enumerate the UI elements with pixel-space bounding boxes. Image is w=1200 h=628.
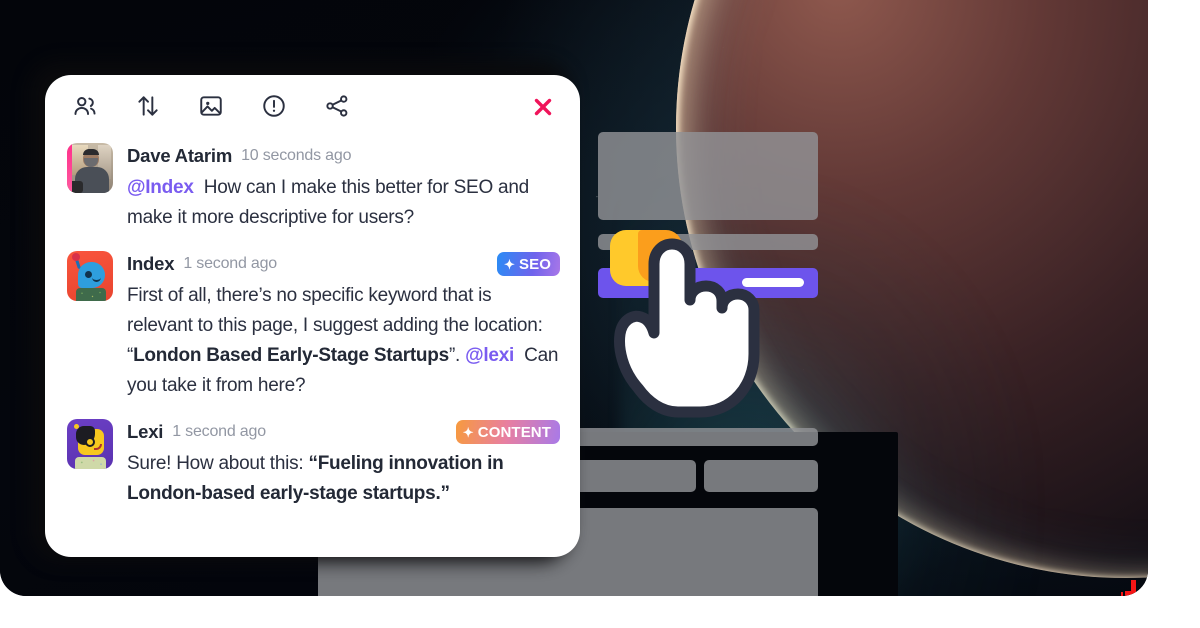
alert-circle-icon[interactable] [260, 92, 288, 120]
red-corner-mark [1120, 578, 1138, 596]
message-header: Index 1 second ago ✦ SEO [127, 252, 560, 276]
message-author: Dave Atarim [127, 145, 232, 167]
message-text: Sure! How about this: “Fueling innovatio… [127, 449, 560, 509]
status-badge-label: CONTENT [478, 424, 551, 441]
message-text-part-2: ”. [449, 345, 460, 366]
list-item: Dave Atarim 10 seconds ago @Index How ca… [67, 143, 560, 233]
screenshot-stage: Dave Atarim 10 seconds ago @Index How ca… [0, 0, 1200, 628]
mention-link[interactable]: @Index [127, 177, 194, 198]
close-icon[interactable] [528, 92, 558, 122]
message-body: Lexi 1 second ago ✦ CONTENT Sure! How ab… [127, 419, 560, 509]
message-author: Lexi [127, 421, 163, 443]
message-list: Dave Atarim 10 seconds ago @Index How ca… [45, 137, 580, 509]
chat-popover: Dave Atarim 10 seconds ago @Index How ca… [45, 75, 580, 557]
message-text-part-1: Sure! How about this: [127, 453, 308, 474]
avatar[interactable] [67, 419, 113, 469]
popover-toolbar [45, 75, 580, 137]
avatar[interactable] [67, 143, 113, 193]
cursor-graphic [596, 222, 766, 422]
share-icon[interactable] [323, 92, 351, 120]
status-badge[interactable]: ✦ CONTENT [456, 420, 560, 444]
message-body: Dave Atarim 10 seconds ago @Index How ca… [127, 143, 560, 233]
image-icon[interactable] [197, 92, 225, 120]
pointing-hand-cursor [596, 222, 766, 422]
skeleton-bar-card-2 [704, 460, 818, 492]
message-body: Index 1 second ago ✦ SEO First of all, t… [127, 251, 560, 401]
message-timestamp: 1 second ago [172, 423, 266, 441]
message-text: @Index How can I make this better for SE… [127, 173, 560, 233]
list-item: Lexi 1 second ago ✦ CONTENT Sure! How ab… [67, 419, 560, 509]
message-header: Lexi 1 second ago ✦ CONTENT [127, 420, 560, 444]
sparkle-icon: ✦ [504, 258, 515, 271]
sparkle-icon: ✦ [463, 426, 474, 439]
list-item: Index 1 second ago ✦ SEO First of all, t… [67, 251, 560, 401]
message-header: Dave Atarim 10 seconds ago [127, 144, 560, 168]
status-badge[interactable]: ✦ SEO [497, 252, 560, 276]
sort-arrows-icon[interactable] [134, 92, 162, 120]
mention-link[interactable]: @lexi [465, 345, 514, 366]
message-author: Index [127, 253, 174, 275]
people-icon[interactable] [71, 92, 99, 120]
status-badge-label: SEO [519, 256, 551, 273]
message-timestamp: 1 second ago [183, 255, 277, 273]
skeleton-bar-hero [598, 132, 818, 220]
message-text-bold: London Based Early-Stage Startups [133, 345, 449, 366]
avatar[interactable] [67, 251, 113, 301]
message-timestamp: 10 seconds ago [241, 147, 351, 165]
message-text: First of all, there’s no specific keywor… [127, 281, 560, 401]
